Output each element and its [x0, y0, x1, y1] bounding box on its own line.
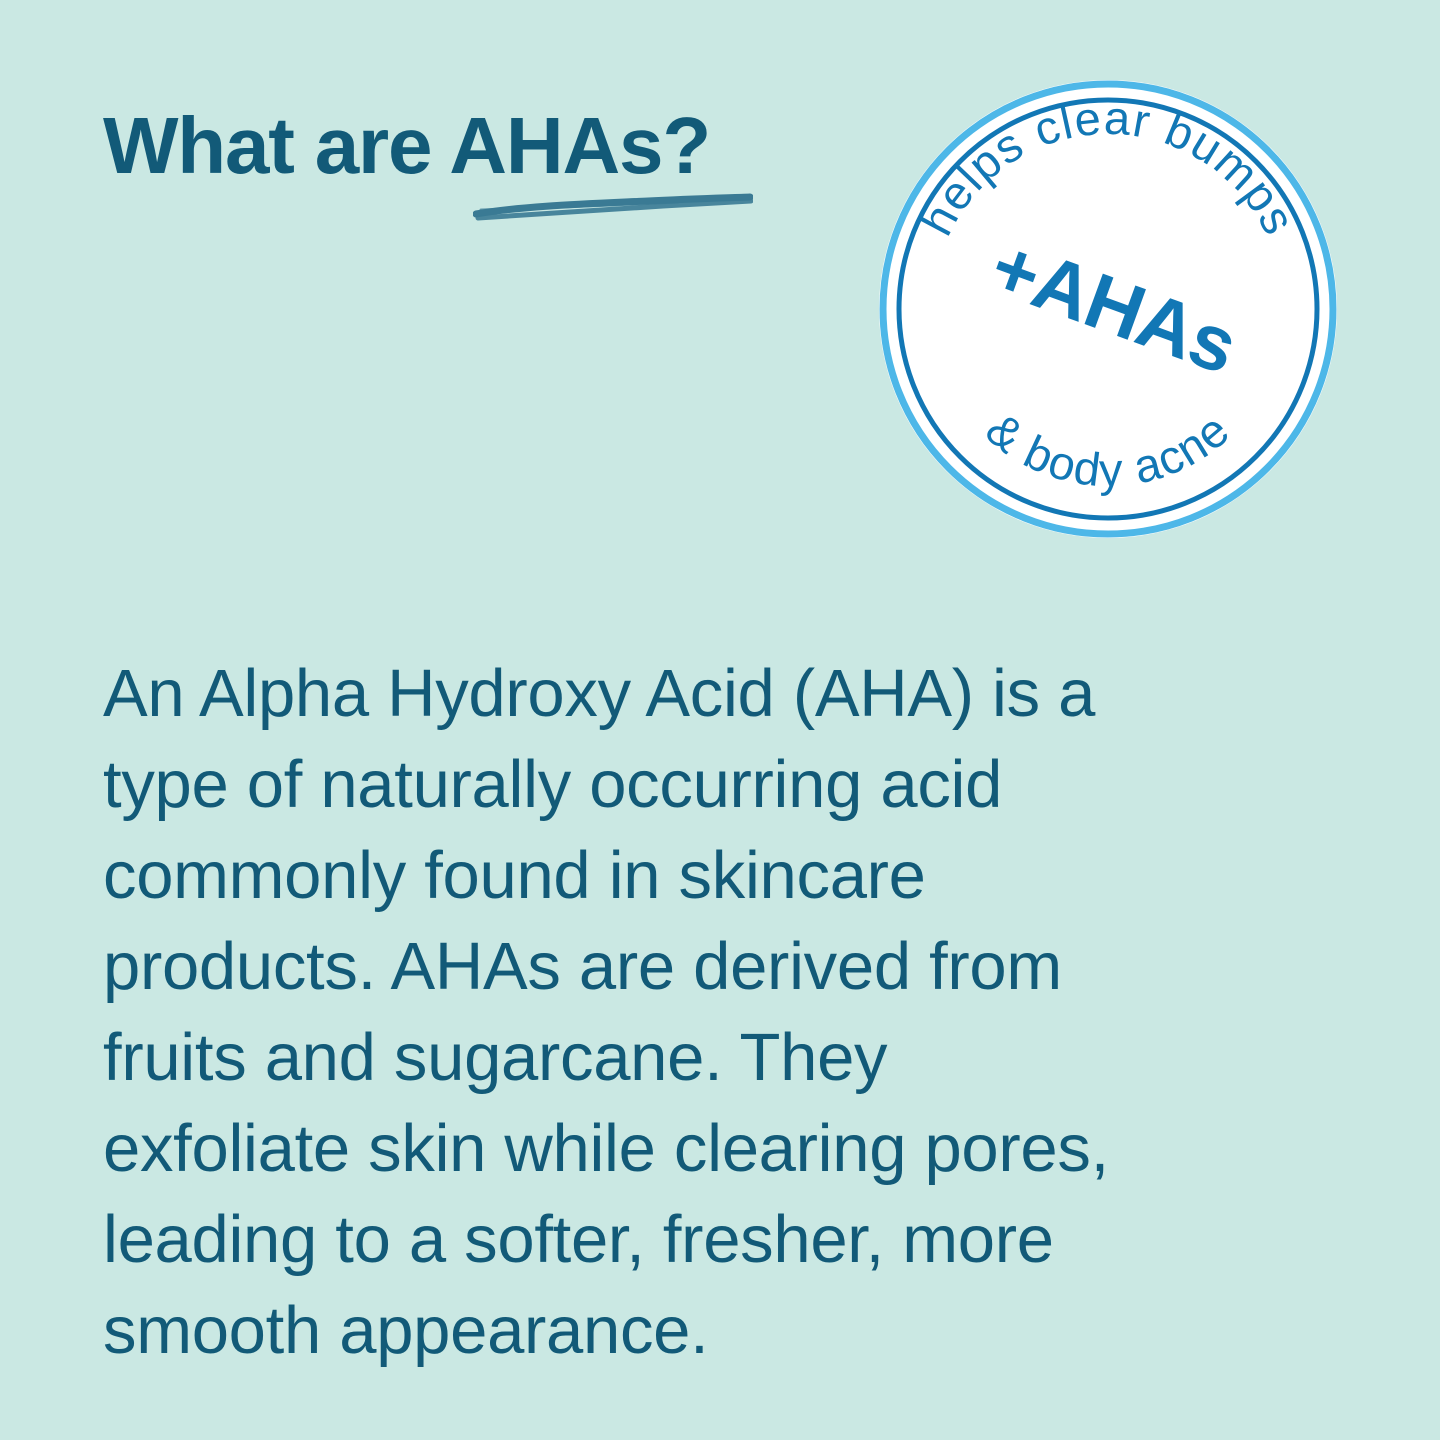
body-line: An Alpha Hydroxy Acid (AHA) is a: [103, 648, 1283, 739]
page-title: What are AHAs?: [103, 104, 863, 188]
body-line: type of naturally occurring acid: [103, 739, 1283, 830]
body-line: leading to a softer, fresher, more: [103, 1194, 1283, 1285]
body-line: fruits and sugarcane. They: [103, 1012, 1283, 1103]
aha-stamp-badge: helps clear bumps & body acne +AHAs: [873, 74, 1343, 544]
body-line: exfoliate skin while clearing pores,: [103, 1103, 1283, 1194]
heading-block: What are AHAs?: [103, 104, 863, 188]
body-line: commonly found in skincare: [103, 830, 1283, 921]
body-paragraph: An Alpha Hydroxy Acid (AHA) is a type of…: [103, 648, 1283, 1376]
body-line: smooth appearance.: [103, 1285, 1283, 1376]
body-line: products. AHAs are derived from: [103, 921, 1283, 1012]
hand-drawn-underline-icon: [473, 188, 753, 228]
aha-info-card: What are AHAs? helps clear bumps: [0, 0, 1440, 1440]
